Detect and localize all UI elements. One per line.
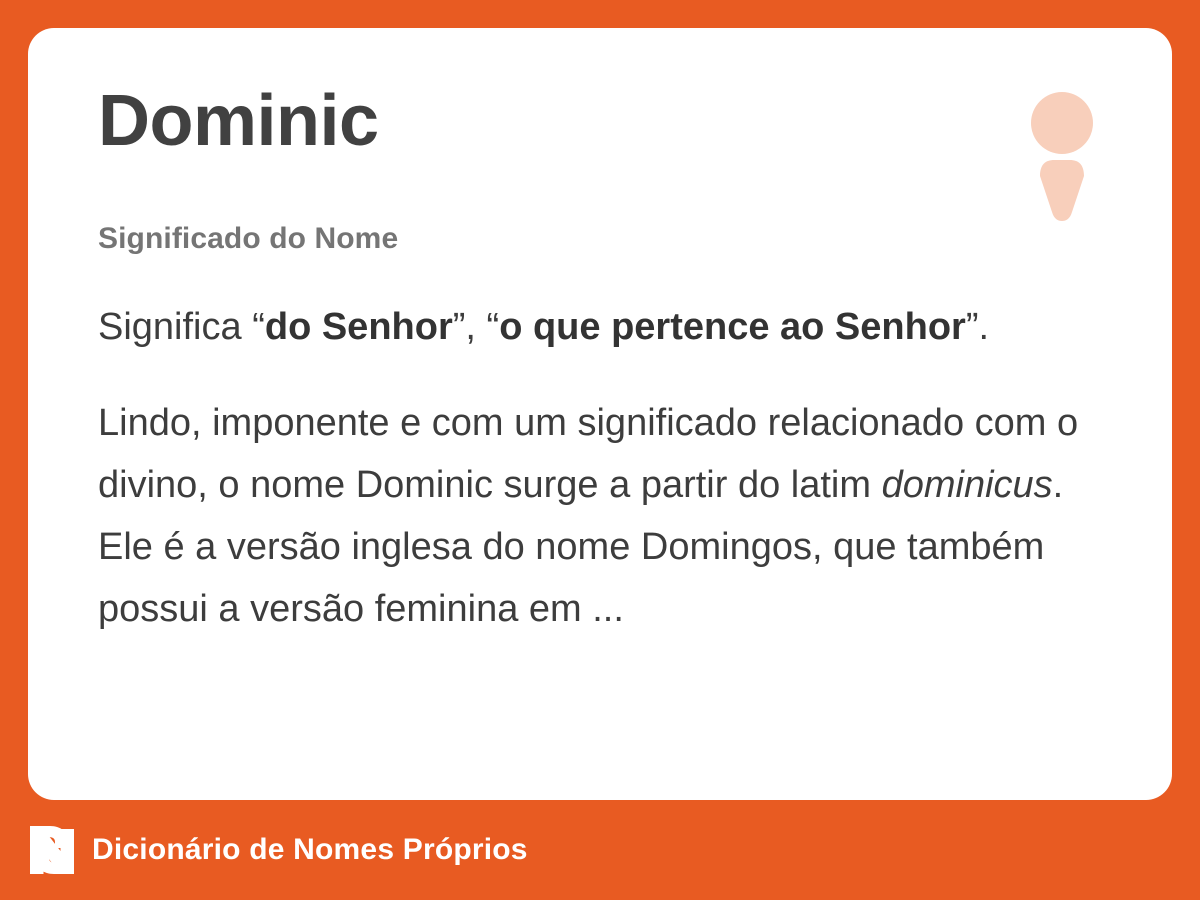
meaning-close-quote-2: ” — [966, 306, 979, 348]
title-row: Dominic — [70, 84, 1112, 160]
description-latin-italic: dominicus — [882, 464, 1053, 506]
meaning-bold-2: o que pertence ao Senhor — [499, 306, 966, 348]
meaning-open-quote-2: “ — [487, 306, 500, 348]
card-content: Dominic Significado do Nome Significa “d… — [70, 84, 1112, 800]
person-icon — [1026, 92, 1098, 222]
section-subtitle: Significado do Nome — [70, 222, 1112, 256]
page-title: Dominic — [70, 84, 1112, 160]
meaning-open-quote-1: “ — [252, 306, 265, 348]
dicionario-n-logo-icon — [30, 826, 74, 874]
footer-bar: Dicionário de Nomes Próprios — [0, 800, 1200, 900]
page-root: Dominic Significado do Nome Significa “d… — [0, 0, 1200, 900]
meaning-close-quote-1: ” — [453, 306, 466, 348]
meaning-lead: Significa — [98, 306, 252, 348]
meaning-bold-1: do Senhor — [265, 306, 453, 348]
description-paragraph: Lindo, imponente e com um significado re… — [98, 392, 1094, 640]
meaning-sentence: Significa “do Senhor”, “o que pertence a… — [98, 296, 1094, 358]
body-block: Significa “do Senhor”, “o que pertence a… — [70, 296, 1112, 640]
name-meaning-card: Dominic Significado do Nome Significa “d… — [28, 28, 1172, 800]
meaning-period: . — [979, 306, 990, 348]
meaning-separator: , — [465, 306, 486, 348]
brand-name: Dicionário de Nomes Próprios — [92, 835, 528, 865]
